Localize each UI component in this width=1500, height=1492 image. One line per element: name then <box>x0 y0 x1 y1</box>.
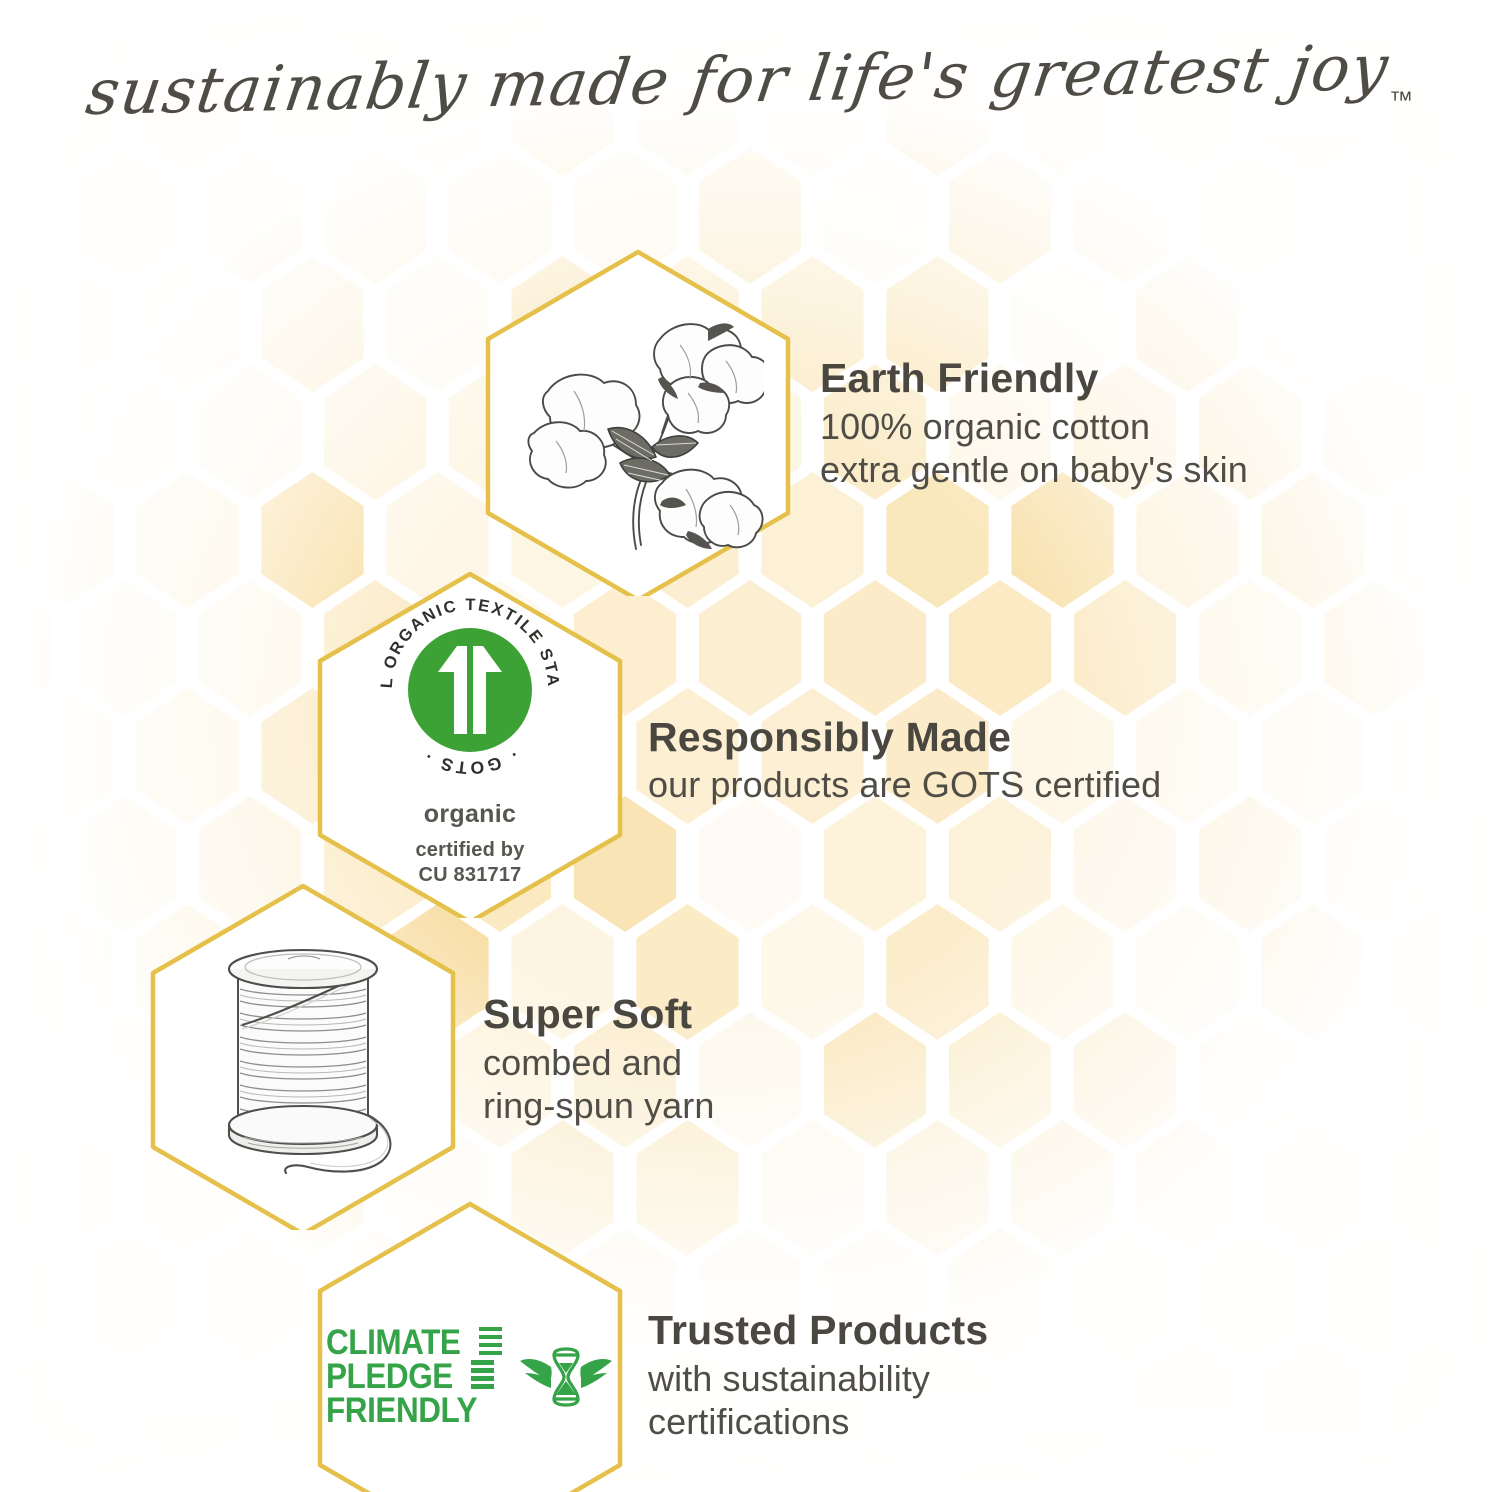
feature-earth-friendly: Earth Friendly 100% organic cotton extra… <box>478 246 1248 596</box>
honeycomb-cell <box>1261 688 1363 824</box>
honeycomb-cell <box>1324 364 1426 500</box>
honeycomb-cell <box>11 688 113 824</box>
feature-trusted-products: CLIMATE PLEDGE FRIENDLY <box>310 1198 988 1492</box>
honeycomb-cell <box>1324 796 1426 932</box>
honeycomb-cell <box>199 364 301 500</box>
honeycomb-cell <box>74 148 176 284</box>
honeycomb-cell <box>11 1120 113 1256</box>
honeycomb-cell <box>1386 1336 1488 1472</box>
honeycomb-cell <box>1074 1228 1176 1364</box>
cpf-bars-icon <box>471 1360 494 1394</box>
honeycomb-cell <box>1324 148 1426 284</box>
honeycomb-cell <box>199 580 301 716</box>
honeycomb-cell <box>1074 1012 1176 1148</box>
hexagon-tile-earth-friendly <box>478 246 798 596</box>
hexagon-tile-super-soft <box>143 880 463 1230</box>
feature-text-trusted-products: Trusted Products with sustainability cer… <box>648 1308 988 1443</box>
honeycomb-cell <box>0 364 51 500</box>
honeycomb-cell <box>1136 904 1238 1040</box>
honeycomb-cell <box>386 256 488 392</box>
honeycomb-cell <box>11 904 113 1040</box>
feature-super-soft: Super Soft combed and ring-spun yarn <box>143 880 715 1230</box>
honeycomb-cell <box>1261 472 1363 608</box>
honeycomb-cell <box>0 148 51 284</box>
feature-line: certifications <box>648 1400 988 1444</box>
honeycomb-cell <box>1386 1120 1488 1256</box>
honeycomb-cell <box>324 364 426 500</box>
cpf-bars-icon <box>479 1327 502 1361</box>
honeycomb-cell <box>1449 148 1500 284</box>
honeycomb-cell <box>136 688 238 824</box>
honeycomb-cell <box>1324 580 1426 716</box>
honeycomb-cell <box>11 1336 113 1472</box>
honeycomb-cell <box>1386 256 1488 392</box>
honeycomb-cell <box>324 148 426 284</box>
honeycomb-cell <box>0 580 51 716</box>
honeycomb-cell <box>0 1228 51 1364</box>
feature-title: Super Soft <box>483 992 715 1036</box>
hexagon-tile-trusted-products: CLIMATE PLEDGE FRIENDLY <box>310 1198 630 1492</box>
honeycomb-cell <box>1199 1228 1301 1364</box>
honeycomb-cell <box>74 580 176 716</box>
honeycomb-cell <box>1136 1336 1238 1472</box>
feature-line: ring-spun yarn <box>483 1084 715 1128</box>
honeycomb-cell <box>1386 472 1488 608</box>
honeycomb-cell <box>1011 1336 1113 1472</box>
honeycomb-cell <box>1386 688 1488 824</box>
honeycomb-cell <box>1449 1228 1500 1364</box>
trademark-symbol: ™ <box>1389 87 1413 114</box>
cpf-word-friendly: FRIENDLY <box>326 1394 477 1428</box>
feature-title: Responsibly Made <box>648 715 1161 759</box>
winged-hourglass-icon <box>518 1341 614 1413</box>
honeycomb-cell <box>1199 580 1301 716</box>
feature-text-responsibly-made: Responsibly Made our products are GOTS c… <box>648 715 1161 807</box>
feature-line: combed and <box>483 1041 715 1085</box>
honeycomb-cell <box>1011 1120 1113 1256</box>
honeycomb-cell <box>886 904 988 1040</box>
feature-title: Trusted Products <box>648 1308 988 1352</box>
page-headline: sustainably made for life's greatest joy… <box>0 56 1500 129</box>
honeycomb-cell <box>199 1228 301 1364</box>
feature-title: Earth Friendly <box>820 356 1248 400</box>
honeycomb-cell <box>11 256 113 392</box>
honeycomb-cell <box>199 148 301 284</box>
honeycomb-cell <box>1261 904 1363 1040</box>
honeycomb-cell <box>74 364 176 500</box>
feature-line: 100% organic cotton <box>820 405 1248 449</box>
honeycomb-cell <box>136 256 238 392</box>
honeycomb-cell <box>0 796 51 932</box>
honeycomb-cell <box>1261 1336 1363 1472</box>
feature-line: our products are GOTS certified <box>648 763 1161 807</box>
climate-pledge-friendly-logo: CLIMATE PLEDGE FRIENDLY <box>326 1326 614 1428</box>
honeycomb-cell <box>949 1012 1051 1148</box>
feature-line: extra gentle on baby's skin <box>820 448 1248 492</box>
honeycomb-cell <box>74 1228 176 1364</box>
honeycomb-cell <box>261 256 363 392</box>
honeycomb-cell <box>1011 904 1113 1040</box>
honeycomb-cell <box>11 472 113 608</box>
honeycomb-cell <box>1261 256 1363 392</box>
gots-certified-by: certified by <box>415 839 524 861</box>
feature-responsibly-made: GLOBAL ORGANIC TEXTILE STANDARD · GOTS · <box>310 568 1161 918</box>
cotton-branch-sketch-icon <box>512 287 764 555</box>
gots-certification-logo: GLOBAL ORGANIC TEXTILE STANDARD · GOTS · <box>372 590 568 888</box>
cpf-word-pledge: PLEDGE <box>326 1360 453 1394</box>
feature-line: with sustainability <box>648 1357 988 1401</box>
honeycomb-cell <box>1449 364 1500 500</box>
honeycomb-cell <box>1449 1012 1500 1148</box>
gots-green-disc <box>408 628 532 752</box>
honeycomb-cell <box>0 1012 51 1148</box>
honeycomb-cell <box>1324 1012 1426 1148</box>
honeycomb-cell <box>1324 1228 1426 1364</box>
honeycomb-cell <box>1386 904 1488 1040</box>
honeycomb-cell <box>1199 1012 1301 1148</box>
cpf-word-climate: CLIMATE <box>326 1326 460 1360</box>
honeycomb-cell <box>136 1336 238 1472</box>
thread-spool-sketch-icon <box>184 929 422 1181</box>
honeycomb-cell <box>1199 796 1301 932</box>
honeycomb-cell <box>824 1012 926 1148</box>
promo-banner: sustainably made for life's greatest joy… <box>0 0 1500 1492</box>
honeycomb-cell <box>761 904 863 1040</box>
honeycomb-cell <box>136 472 238 608</box>
gots-caption: organic <box>424 800 516 829</box>
honeycomb-cell <box>1449 580 1500 716</box>
honeycomb-cell <box>1449 796 1500 932</box>
hexagon-tile-responsibly-made: GLOBAL ORGANIC TEXTILE STANDARD · GOTS · <box>310 568 630 918</box>
honeycomb-cell <box>1261 1120 1363 1256</box>
feature-text-earth-friendly: Earth Friendly 100% organic cotton extra… <box>820 356 1248 491</box>
feature-text-super-soft: Super Soft combed and ring-spun yarn <box>483 992 715 1127</box>
honeycomb-cell <box>1136 1120 1238 1256</box>
